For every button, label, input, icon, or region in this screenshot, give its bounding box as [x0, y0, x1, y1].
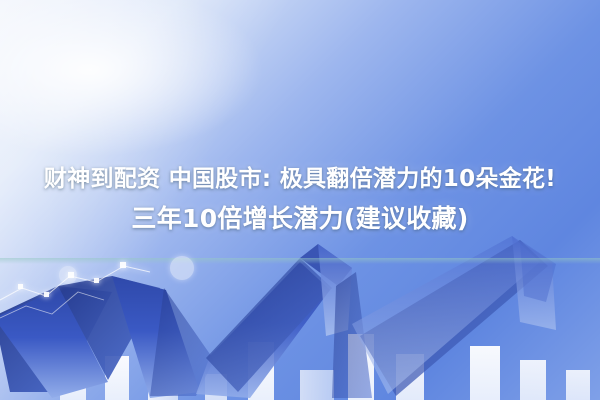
banner-title-line-2: 三年10倍增长潜力(建议收藏) — [0, 199, 600, 238]
banner-title-line-1: 财神到配资 中国股市: 极具翻倍潜力的10朵金花! — [0, 160, 600, 199]
stock-market-banner: -45.02 -11.25 -02.36 -50.02 -02.35 4.36 … — [0, 0, 600, 400]
banner-title: 财神到配资 中国股市: 极具翻倍潜力的10朵金花! 三年10倍增长潜力(建议收藏… — [0, 160, 600, 238]
